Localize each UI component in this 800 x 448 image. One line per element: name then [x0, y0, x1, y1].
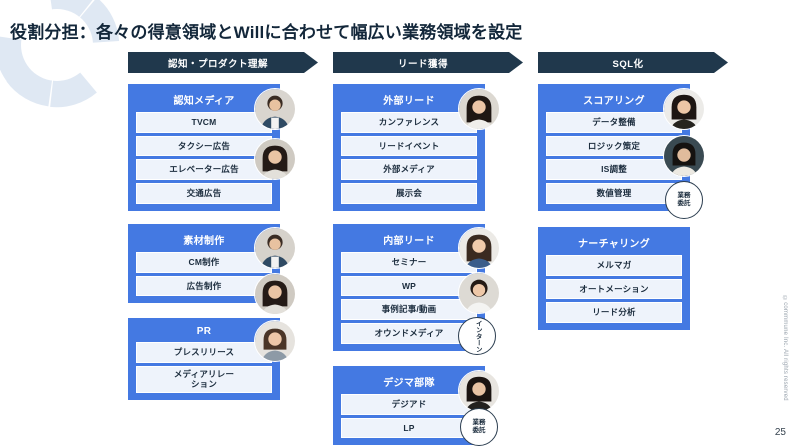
item-box[interactable]: カンファレンス — [341, 112, 477, 133]
page-title: 役割分担：各々の得意領域とWillに合わせて幅広い業務領域を設定 — [10, 18, 522, 43]
item-box[interactable]: タクシー広告 — [136, 136, 272, 157]
item-box[interactable]: 広告制作 — [136, 276, 272, 297]
item-box[interactable]: セミナー — [341, 252, 477, 273]
group-title: 素材制作 — [136, 230, 272, 252]
item-box[interactable]: TVCM — [136, 112, 272, 133]
copyright-text: ©commmune Inc. All rights reserved — [782, 296, 788, 401]
group-title: デジマ部隊 — [341, 372, 477, 394]
page-number: 25 — [775, 427, 786, 438]
item-box[interactable]: 展示会 — [341, 183, 477, 204]
badge-contract: 業務 委託 — [665, 181, 703, 219]
item-box[interactable]: メディアリレー ション — [136, 366, 272, 393]
item-box[interactable]: デジアド — [341, 394, 477, 415]
chevron-label-1: 認知・プロダクト理解 — [168, 56, 268, 70]
avatar — [663, 135, 705, 177]
group-title: スコアリング — [546, 90, 682, 112]
slide-canvas: 役割分担：各々の得意領域とWillに合わせて幅広い業務領域を設定 認知・プロダク… — [0, 0, 800, 448]
avatar — [663, 88, 705, 130]
avatar — [254, 138, 296, 180]
item-box[interactable]: WP — [341, 276, 477, 297]
column-lead-acquisition: リード獲得 — [333, 52, 523, 73]
group-title: 外部リード — [341, 90, 477, 112]
item-box[interactable]: LP — [341, 418, 477, 439]
badge-label: 業務 委託 — [678, 192, 691, 208]
avatar — [458, 272, 500, 314]
group-title: 認知メディア — [136, 90, 272, 112]
group-title: ナーチャリング — [546, 233, 682, 255]
avatar — [254, 227, 296, 269]
item-box[interactable]: 交通広告 — [136, 183, 272, 204]
chevron-label-3: SQL化 — [612, 56, 643, 70]
chevron-label-2: リード獲得 — [398, 56, 448, 70]
avatar — [458, 88, 500, 130]
item-box[interactable]: ロジック策定 — [546, 136, 682, 157]
badge-intern: インターン — [458, 317, 496, 355]
item-box[interactable]: 外部メディア — [341, 159, 477, 180]
item-box[interactable]: オウンドメディア — [341, 323, 477, 344]
avatar — [458, 370, 500, 412]
column-awareness: 認知・プロダクト理解 — [128, 52, 318, 73]
item-box[interactable]: メルマガ — [546, 255, 682, 276]
badge-label: インターン — [474, 320, 481, 353]
group-title: PR — [136, 324, 272, 342]
group-nurturing: ナーチャリング メルマガ オートメーション リード分析 — [538, 227, 690, 330]
item-box[interactable]: リード分析 — [546, 302, 682, 323]
item-box[interactable]: リードイベント — [341, 136, 477, 157]
item-box[interactable]: プレスリリース — [136, 342, 272, 363]
item-box[interactable]: 数値管理 — [546, 183, 682, 204]
item-box[interactable]: エレベーター広告 — [136, 159, 272, 180]
item-box[interactable]: CM制作 — [136, 252, 272, 273]
avatar — [254, 273, 296, 315]
item-box[interactable]: オートメーション — [546, 279, 682, 300]
chevron-header-2: リード獲得 — [333, 52, 523, 73]
item-box[interactable]: データ整備 — [546, 112, 682, 133]
avatar — [254, 320, 296, 362]
chevron-header-3: SQL化 — [538, 52, 728, 73]
item-box[interactable]: IS調整 — [546, 159, 682, 180]
avatar — [458, 227, 500, 269]
badge-label: 業務 委託 — [473, 419, 486, 435]
item-box[interactable]: 事例記事/動画 — [341, 299, 477, 320]
avatar — [254, 88, 296, 130]
group-title: 内部リード — [341, 230, 477, 252]
badge-contract: 業務 委託 — [460, 408, 498, 446]
column-sql: SQL化 — [538, 52, 728, 73]
chevron-header-1: 認知・プロダクト理解 — [128, 52, 318, 73]
